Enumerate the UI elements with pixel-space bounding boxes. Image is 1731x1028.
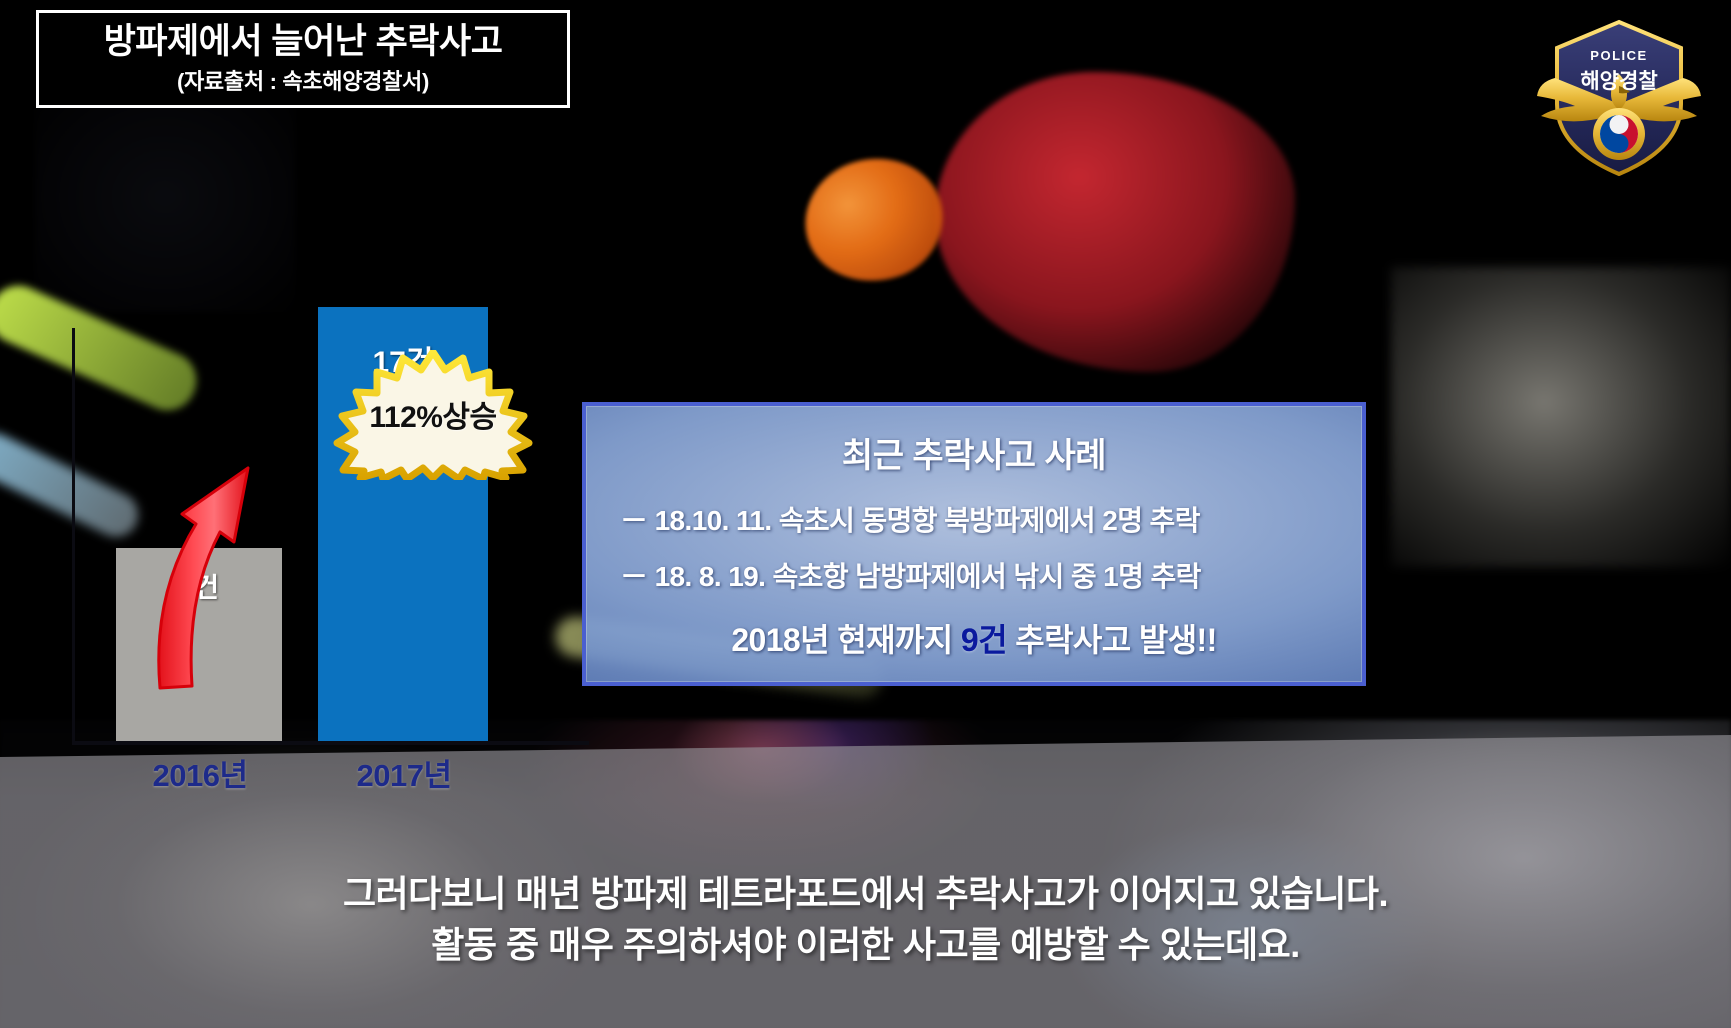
- recent-cases-panel: 최근 추락사고 사례 － 18.10. 11. 속초시 동명항 북방파제에서 2…: [582, 402, 1366, 686]
- recent-cases-list: － 18.10. 11. 속초시 동명항 북방파제에서 2명 추락 － 18. …: [608, 499, 1340, 595]
- list-item: － 18.10. 11. 속초시 동명항 북방파제에서 2명 추락: [620, 499, 1336, 539]
- summary-prefix: 2018년 현재까지: [731, 622, 961, 658]
- caption-block: 그러다보니 매년 방파제 테트라포드에서 추락사고가 이어지고 있습니다. 활동…: [0, 868, 1731, 970]
- x-tick-label-2016: 2016년: [102, 750, 298, 795]
- page-title: 방파제에서 늘어난 추락사고: [104, 24, 503, 61]
- badge-name-text: 해양경찰: [1580, 70, 1657, 93]
- chart-x-axis: [72, 741, 589, 745]
- broadcast-frame: 방파제에서 늘어난 추락사고 (자료출처 : 속초해양경찰서): [0, 0, 1731, 1028]
- growth-callout-badge: 112%상승: [319, 350, 547, 480]
- summary-highlight-count: 9건: [961, 622, 1007, 658]
- caption-line-1: 그러다보니 매년 방파제 테트라포드에서 추락사고가 이어지고 있습니다.: [0, 868, 1731, 919]
- badge-police-text: POLICE: [1590, 48, 1647, 63]
- list-item: － 18. 8. 19. 속초항 남방파제에서 낚시 중 1명 추락: [620, 555, 1336, 595]
- summary-suffix: 추락사고 발생!!: [1007, 622, 1217, 658]
- chart-y-axis: [72, 328, 75, 743]
- caption-line-2: 활동 중 매우 주의하셔야 이러한 사고를 예방할 수 있는데요.: [0, 919, 1731, 970]
- growth-callout-label: 112%상승: [319, 392, 547, 436]
- title-plate: 방파제에서 늘어난 추락사고 (자료출처 : 속초해양경찰서): [36, 10, 570, 108]
- photo-bystander: [1391, 267, 1731, 567]
- bar-2016: 8건: [116, 548, 282, 741]
- coast-guard-badge-logo: POLICE 해양경찰: [1531, 8, 1707, 184]
- bar-value-label-2016: 8건: [116, 566, 282, 605]
- bar-chart: 8건 17건 2016년 2017년: [72, 236, 592, 786]
- recent-cases-summary: 2018년 현재까지 9건 추락사고 발생!!: [608, 615, 1340, 661]
- title-source: (자료출처 : 속초해양경찰서): [177, 64, 429, 96]
- x-tick-label-2017: 2017년: [304, 750, 504, 795]
- recent-cases-title: 최근 추락사고 사례: [608, 428, 1340, 477]
